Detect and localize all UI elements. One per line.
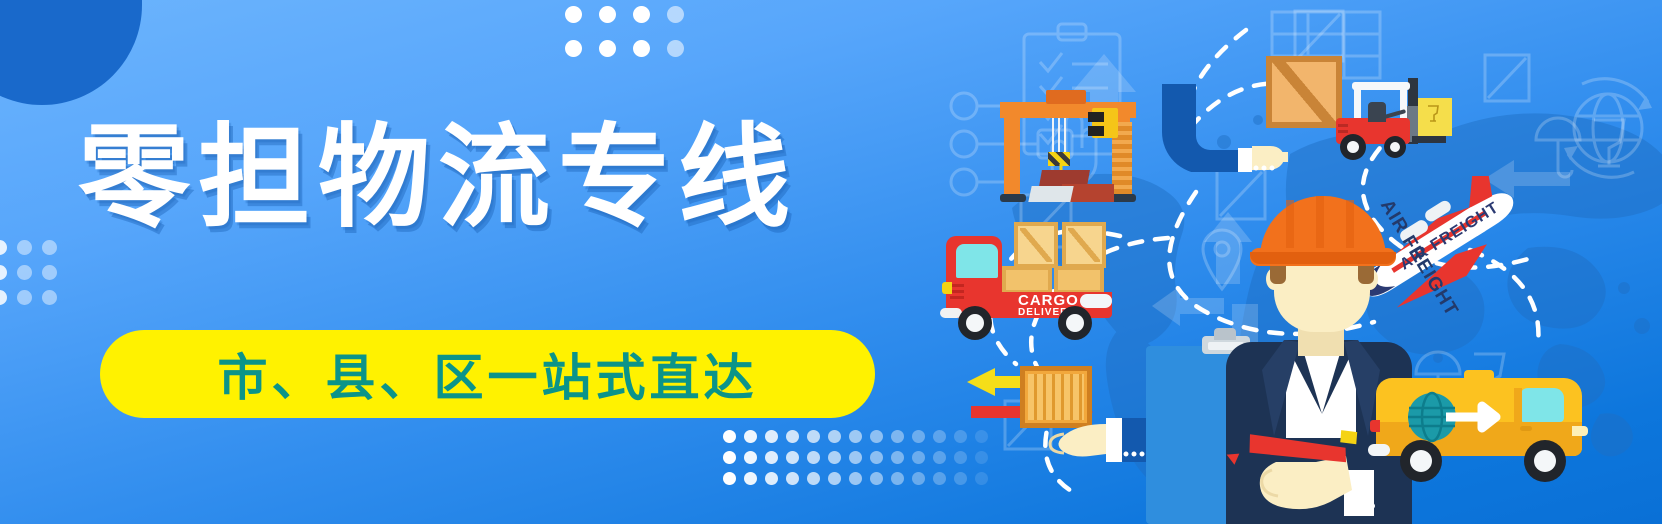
truck-crate-c <box>1002 266 1052 294</box>
grid-dot <box>849 430 862 443</box>
grid-dot <box>870 472 883 485</box>
truck-crate-d <box>1054 266 1104 294</box>
grid-dot <box>42 290 57 305</box>
subtitle-pill: 市、县、区一站式直达 <box>100 330 875 418</box>
dot-grid-left <box>0 240 52 300</box>
grid-dot <box>912 451 925 464</box>
delivery-van <box>1368 364 1598 494</box>
grid-dot <box>565 40 582 57</box>
grid-dot <box>599 6 616 23</box>
grid-dot <box>828 430 841 443</box>
grid-dot <box>42 240 57 255</box>
grid-dot <box>954 451 967 464</box>
grid-dot <box>744 430 757 443</box>
grid-dot <box>954 430 967 443</box>
corner-blob-decoration <box>0 0 142 105</box>
forklift <box>1308 78 1448 158</box>
grid-dot <box>870 430 883 443</box>
grid-dot <box>17 240 32 255</box>
grid-dot <box>723 451 736 464</box>
grid-dot <box>891 472 904 485</box>
grid-dot <box>933 451 946 464</box>
grid-dot <box>633 6 650 23</box>
grid-dot <box>765 430 778 443</box>
logistics-banner: CARGO DELIVERY <box>0 0 1662 524</box>
grid-dot <box>17 290 32 305</box>
grid-dot <box>723 472 736 485</box>
grid-dot <box>828 472 841 485</box>
grid-dot <box>912 430 925 443</box>
grid-dot <box>667 40 684 57</box>
grid-dot <box>786 451 799 464</box>
dot-grid-bottom <box>723 430 993 490</box>
grid-dot <box>0 240 7 255</box>
grid-dot <box>954 472 967 485</box>
grid-dot <box>723 430 736 443</box>
subtitle-text: 市、县、区一站式直达 <box>218 338 758 410</box>
grid-dot <box>0 265 7 280</box>
grid-dot <box>0 290 7 305</box>
pointing-hand <box>1158 82 1288 172</box>
grid-dot <box>786 430 799 443</box>
grid-dot <box>744 451 757 464</box>
grid-dot <box>599 40 616 57</box>
grid-dot <box>633 40 650 57</box>
grid-dot <box>17 265 32 280</box>
grid-dot <box>765 451 778 464</box>
dot-grid-top <box>565 6 705 52</box>
gantry-crane <box>1000 88 1136 200</box>
grid-dot <box>807 472 820 485</box>
holding-hand-crate <box>1010 366 1160 476</box>
grid-dot <box>849 451 862 464</box>
grid-dot <box>870 451 883 464</box>
page-title: 零担物流专线 <box>78 122 798 234</box>
grid-dot <box>828 451 841 464</box>
grid-dot <box>565 6 582 23</box>
grid-dot <box>891 451 904 464</box>
grid-dot <box>933 472 946 485</box>
grid-dot <box>891 430 904 443</box>
grid-dot <box>933 430 946 443</box>
grid-dot <box>786 472 799 485</box>
cargo-truck: CARGO DELIVERY <box>940 222 1150 332</box>
grid-dot <box>765 472 778 485</box>
grid-dot <box>667 6 684 23</box>
grid-dot <box>807 451 820 464</box>
grid-dot <box>807 430 820 443</box>
grid-dot <box>42 265 57 280</box>
grid-dot <box>744 472 757 485</box>
grid-dot <box>849 472 862 485</box>
grid-dot <box>912 472 925 485</box>
